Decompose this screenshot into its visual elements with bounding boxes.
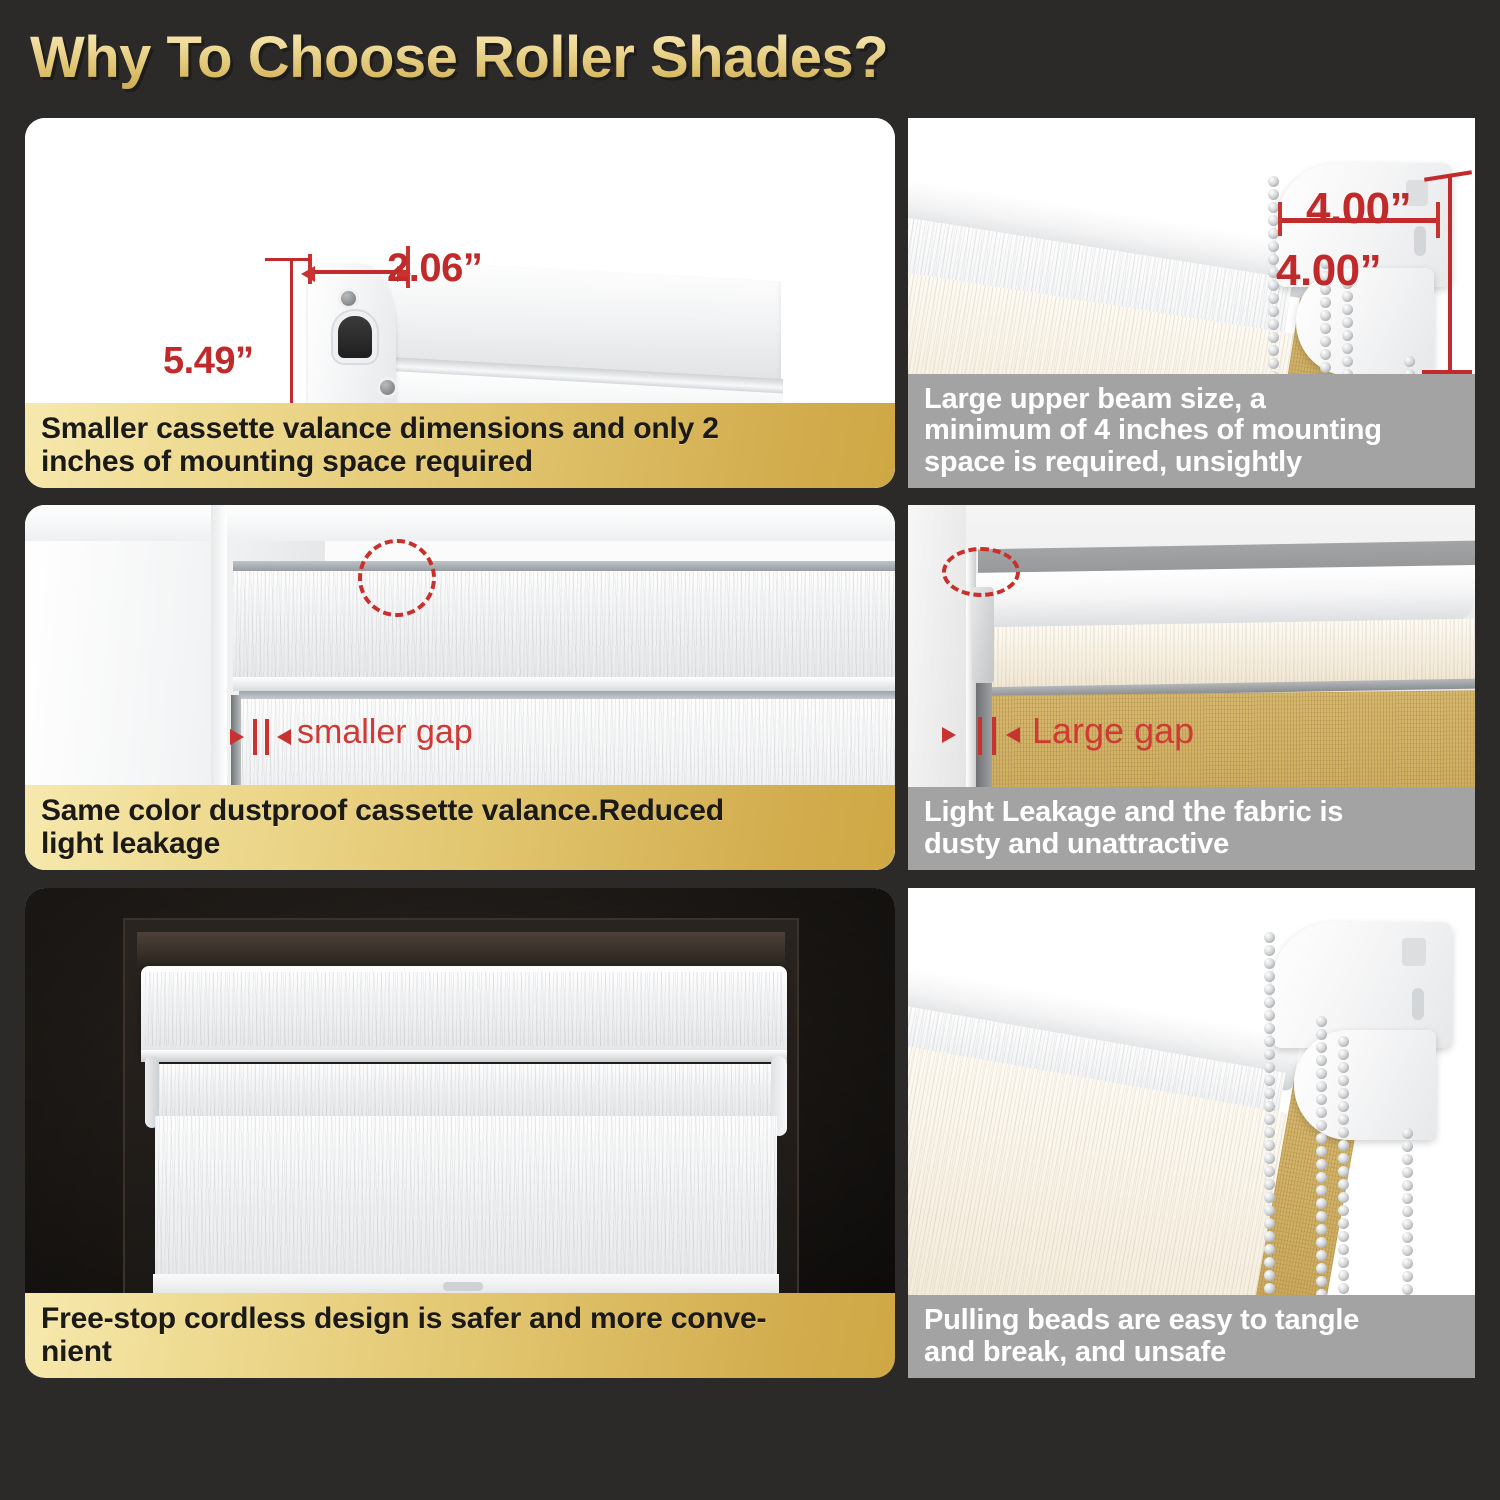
screw-icon — [341, 291, 356, 306]
gap-arrow-left-icon — [277, 729, 291, 745]
panel-large-upper-beam: 4.00” 4.00” Large upper beam size, a min… — [908, 118, 1475, 488]
valance-face — [233, 571, 895, 681]
dim-tick — [1278, 202, 1282, 236]
caption-panel-2: Large upper beam size, a minimum of 4 in… — [908, 374, 1475, 488]
caption-panel-3: Same color dustproof cassette valance.Re… — [25, 785, 895, 870]
gap-label: smaller gap — [297, 713, 473, 752]
caption-line: and break, and unsafe — [924, 1337, 1461, 1368]
valance-face-texture — [145, 972, 783, 1046]
panel-free-stop-cordless-design: Free-stop cordless design is safer and m… — [25, 888, 895, 1378]
gap-tick — [992, 717, 996, 755]
bracket-slot — [1412, 988, 1424, 1020]
page-title: Why To Choose Roller Shades? — [30, 22, 1030, 94]
caption-line: Pulling beads are easy to tangle — [924, 1305, 1461, 1336]
caption-line: space is required, unsightly — [924, 447, 1461, 478]
gap-arrow-right-icon — [230, 729, 244, 745]
caption-panel-5: Free-stop cordless design is safer and m… — [25, 1293, 895, 1378]
shade-fabric — [155, 1116, 777, 1284]
valance-bottom-lip — [233, 677, 895, 691]
caption-line: inches of mounting space required — [41, 446, 881, 478]
gap-tick — [265, 719, 269, 755]
gap-label: Large gap — [1032, 710, 1194, 752]
dimension-width-label: 4.00” — [1306, 184, 1411, 234]
bracket-notch — [1402, 938, 1426, 966]
window-header — [137, 932, 785, 966]
highlight-circle-icon — [358, 539, 436, 617]
gap-tick — [978, 717, 982, 755]
panel-dustproof-cassette-valance: smaller gap Same color dustproof cassett… — [25, 505, 895, 870]
caption-panel-1: Smaller cassette valance dimensions and … — [25, 403, 895, 488]
caption-line: minimum of 4 inches of mounting — [924, 415, 1461, 446]
gap-arrow-right-icon — [942, 727, 956, 743]
dim-cap-top — [265, 258, 311, 261]
gap-arrow-left-icon — [1006, 727, 1020, 743]
dimension-width-label: 2.06” — [387, 246, 482, 291]
highlight-circle-icon — [942, 547, 1020, 597]
caption-line: Light Leakage and the fabric is — [924, 797, 1461, 828]
dim-line-height — [1448, 174, 1452, 374]
caption-line: light leakage — [41, 828, 881, 860]
dimension-height-label: 4.00” — [1276, 246, 1381, 296]
panel-pulling-beads-tangle: Pulling beads are easy to tangle and bre… — [908, 888, 1475, 1378]
gap-tick — [253, 719, 257, 755]
panel-light-leakage-dusty-fabric: Large gap Light Leakage and the fabric i… — [908, 505, 1475, 870]
bottom-rail-handle[interactable] — [443, 1282, 483, 1291]
caption-panel-4: Light Leakage and the fabric is dusty an… — [908, 787, 1475, 870]
bracket-slot — [1414, 226, 1426, 256]
window-trim-top — [25, 505, 895, 541]
infographic-root: Why To Choose Roller Shades? Why To Choo… — [0, 0, 1500, 1500]
caption-line: dusty and unattractive — [924, 829, 1461, 860]
caption-line: nient — [41, 1336, 881, 1368]
caption-panel-6: Pulling beads are easy to tangle and bre… — [908, 1295, 1475, 1378]
dim-tick — [1436, 202, 1440, 238]
caption-line: Free-stop cordless design is safer and m… — [41, 1303, 881, 1335]
caption-line: Smaller cassette valance dimensions and … — [41, 413, 881, 445]
caption-line: Same color dustproof cassette valance.Re… — [41, 795, 881, 827]
caption-line: Large upper beam size, a — [924, 384, 1461, 415]
shade-top-roll — [151, 1064, 779, 1116]
dimension-height-label: 5.49” — [163, 340, 253, 383]
valance-slot — [338, 316, 372, 358]
screw-icon — [380, 380, 395, 395]
panel-cassette-valance-dimensions: 2.06” 5.49” Smaller cassette valance dim… — [25, 118, 895, 488]
bracket-hardware — [972, 587, 994, 683]
valance-lip — [141, 1050, 787, 1062]
